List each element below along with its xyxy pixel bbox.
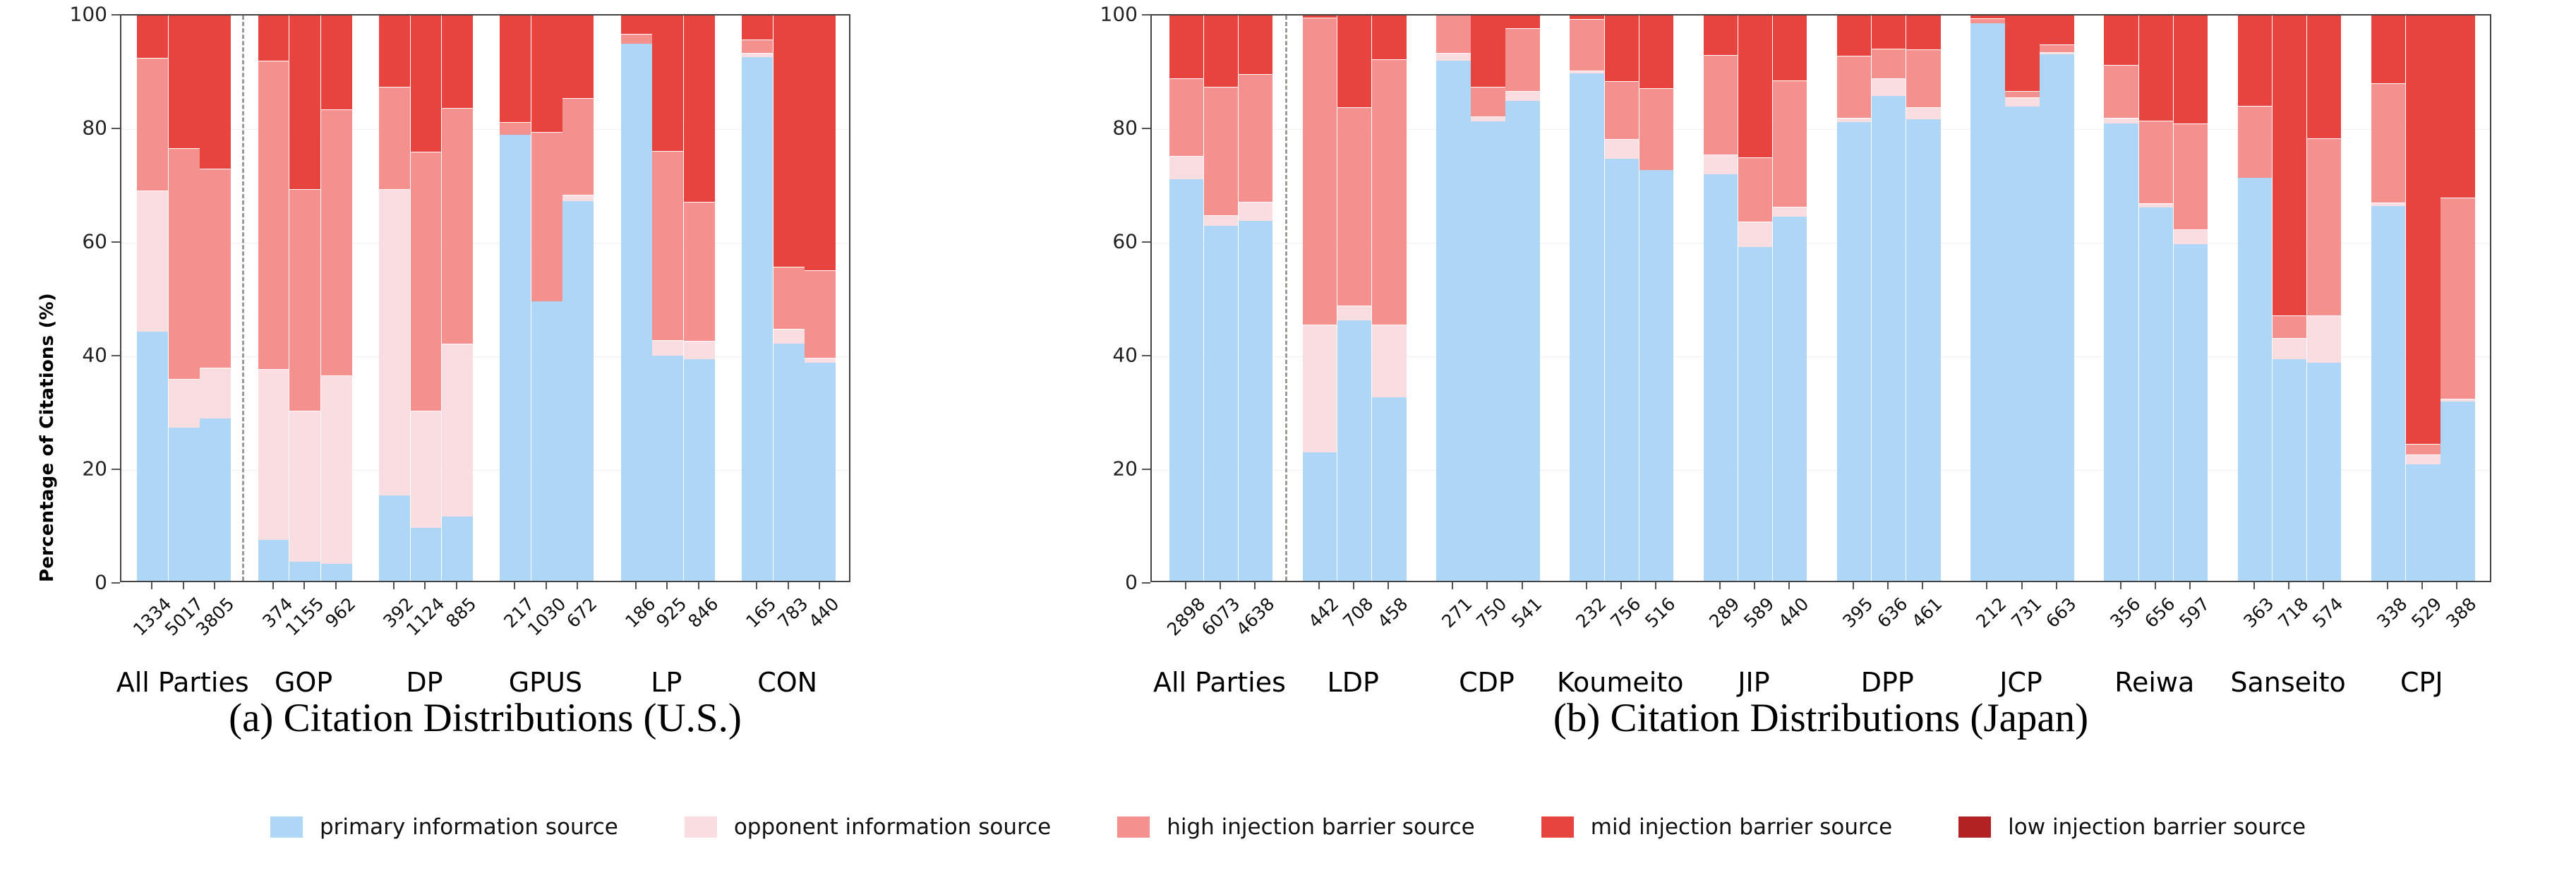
bar-segment-primary-information-source [1471,121,1505,581]
x-tick-mark [1452,582,1453,589]
bar-segment-high-injection-barrier-source [1505,28,1539,91]
bar-segment-mid-injection-barrier-source [1303,14,1337,18]
bar-segment-primary-information-source [321,564,352,581]
bar-segment-high-injection-barrier-source [1704,55,1738,155]
bar-segment-primary-information-source [774,344,805,581]
x-tick-mark [335,582,337,589]
bar-segment-opponent-information-source [1471,116,1505,121]
bar-segment-high-injection-barrier-source [1337,107,1371,305]
x-tick-mark [2021,582,2023,589]
stacked-bar [2307,14,2341,581]
legend-item-4: low injection barrier source [1958,814,2306,840]
bar-segment-high-injection-barrier-source [2005,91,2039,97]
bar-segment-high-injection-barrier-source [137,58,168,191]
bar-segment-primary-information-source [1303,452,1337,581]
bar-segment-opponent-information-source [2174,229,2208,245]
bar-segment-high-injection-barrier-source [2238,106,2272,178]
group-divider [242,16,244,581]
stacked-bar [1372,14,1406,581]
bar-segment-opponent-information-source [2139,203,2173,207]
legend-label: primary information source [320,814,618,840]
bar-segment-high-injection-barrier-source [200,169,231,368]
bar-segment-opponent-information-source [1872,78,1906,96]
bar-segment-opponent-information-source [1337,306,1371,321]
bar-segment-high-injection-barrier-source [2406,444,2440,454]
bar-segment-opponent-information-source [2371,203,2405,206]
x-tick-mark [456,582,457,589]
y-tick-mark [112,582,120,584]
x-tick-mark [183,582,184,589]
stacked-bar [1906,14,1940,581]
bar-segment-high-injection-barrier-source [1303,18,1337,325]
bar-segment-opponent-information-source [1303,325,1337,452]
bar-segment-primary-information-source [1239,221,1272,581]
bar-segment-high-injection-barrier-source [1872,49,1906,79]
y-tick-mark [1142,582,1150,584]
bar-segment-primary-information-source [805,363,836,581]
bar-segment-mid-injection-barrier-source [805,14,836,270]
bar-segment-high-injection-barrier-source [742,40,773,53]
bar-segment-mid-injection-barrier-source [1837,14,1871,56]
bar-segment-mid-injection-barrier-source [289,14,320,189]
bar-segment-mid-injection-barrier-source [1605,14,1639,81]
stacked-bar [652,14,683,581]
bar-segment-mid-injection-barrier-source [684,14,715,202]
bar-segment-primary-information-source [442,517,473,581]
bar-segment-high-injection-barrier-source [621,34,652,44]
legend-item-3: mid injection barrier source [1541,814,1892,840]
bar-segment-high-injection-barrier-source [1372,59,1406,325]
x-tick-mark [2120,582,2121,589]
bar-segment-mid-injection-barrier-source [1738,14,1772,157]
x-tick-mark [1788,582,1790,589]
bar-segment-mid-injection-barrier-source [1505,14,1539,28]
bar-segment-opponent-information-source [2307,315,2341,363]
bar-segment-mid-injection-barrier-source [621,14,652,34]
stacked-bar [289,14,320,581]
bar-segment-mid-injection-barrier-source [2174,14,2208,123]
x-tick-mark [1754,582,1755,589]
bar-segment-high-injection-barrier-source [805,270,836,358]
bar-segment-opponent-information-source [1436,53,1470,61]
legend-label: mid injection barrier source [1591,814,1892,840]
stacked-bar [1337,14,1371,581]
bar-segment-high-injection-barrier-source [379,87,410,188]
bar-segment-opponent-information-source [2040,52,2074,54]
bar-segment-high-injection-barrier-source [2139,121,2173,203]
stacked-bar [2104,14,2138,581]
stacked-bar [1970,14,2004,581]
bar-segment-primary-information-source [411,528,442,581]
stacked-bar [2174,14,2208,581]
bar-segment-high-injection-barrier-source [2440,198,2474,398]
stacked-bar [1169,14,1203,581]
x-tick-mark [1586,582,1587,589]
legend-swatch-icon [1117,816,1150,838]
bar-segment-opponent-information-source [289,411,320,562]
x-tick-mark [1655,582,1656,589]
stacked-bar [2440,14,2474,581]
y-tick-label: 40 [0,344,107,367]
bar-segment-primary-information-source [1738,247,1772,581]
legend-label: high injection barrier source [1167,814,1475,840]
stacked-bar [621,14,652,581]
x-tick-mark [698,582,699,589]
bar-segment-mid-injection-barrier-source [321,14,352,109]
bar-segment-primary-information-source [2238,178,2272,581]
stacked-bar [1837,14,1871,581]
stacked-bar [169,14,200,581]
stacked-bar [1605,14,1639,581]
bar-segment-opponent-information-source [805,358,836,362]
bar-segment-mid-injection-barrier-source [1872,14,1906,49]
bar-segment-primary-information-source [684,359,715,581]
x-tick-mark [2456,582,2457,589]
bar-segment-high-injection-barrier-source [2273,315,2306,338]
bar-segment-mid-injection-barrier-source [742,14,773,40]
stacked-bar [1872,14,1906,581]
bar-segment-primary-information-source [652,356,683,581]
bar-segment-primary-information-source [1639,170,1673,581]
bar-segment-high-injection-barrier-source [1738,157,1772,222]
bar-segment-mid-injection-barrier-source [2238,14,2272,106]
bar-segment-high-injection-barrier-source [2174,123,2208,229]
bar-segment-opponent-information-source [1738,222,1772,246]
x-tick-mark [1254,582,1256,589]
bar-segment-mid-injection-barrier-source [652,14,683,151]
plot-area-jp [1150,14,2491,582]
x-tick-mark [1388,582,1389,589]
bar-segment-high-injection-barrier-source [652,151,683,340]
bar-segment-primary-information-source [379,495,410,581]
bar-segment-mid-injection-barrier-source [1970,14,2004,18]
bar-segment-primary-information-source [1872,96,1906,581]
bar-segment-mid-injection-barrier-source [1169,14,1203,78]
x-group-label: CON [757,667,817,698]
bar-segment-high-injection-barrier-source [1204,87,1238,215]
x-tick-mark [2387,582,2388,589]
bar-segment-high-injection-barrier-source [2371,83,2405,203]
x-tick-mark [1185,582,1186,589]
bar-segment-mid-injection-barrier-source [258,14,289,61]
bar-segment-mid-injection-barrier-source [379,14,410,87]
bar-segment-opponent-information-source [1204,215,1238,225]
bar-segment-primary-information-source [169,428,200,581]
bar-segment-opponent-information-source [2104,118,2138,123]
bar-segment-primary-information-source [1837,122,1871,581]
bar-segment-primary-information-source [2307,363,2341,581]
x-tick-mark [666,582,668,589]
bar-segment-opponent-information-source [562,195,594,202]
bar-segment-high-injection-barrier-source [1605,81,1639,138]
legend-item-0: primary information source [270,814,618,840]
x-tick-mark [546,582,547,589]
bar-segment-primary-information-source [1505,101,1539,581]
bar-segment-opponent-information-source [258,369,289,540]
y-tick-mark [1142,128,1150,129]
x-tick-mark [635,582,637,589]
bar-segment-high-injection-barrier-source [1837,56,1871,118]
bar-segment-opponent-information-source [442,344,473,517]
stacked-bar [1239,14,1272,581]
bar-segment-high-injection-barrier-source [169,148,200,380]
bar-segment-high-injection-barrier-source [2104,65,2138,118]
bar-segment-mid-injection-barrier-source [442,14,473,108]
bar-segment-primary-information-source [1204,226,1238,581]
x-tick-mark [214,582,215,589]
bar-segment-opponent-information-source [137,191,168,332]
bar-segment-high-injection-barrier-source [2040,44,2074,52]
bar-segment-mid-injection-barrier-source [2371,14,2405,83]
bar-segment-high-injection-barrier-source [1471,87,1505,116]
stacked-bar [805,14,836,581]
bar-segment-mid-injection-barrier-source [1704,14,1738,55]
stacked-bar [2040,14,2074,581]
bar-segment-primary-information-source [1436,61,1470,581]
stacked-bar [742,14,773,581]
bar-segment-high-injection-barrier-source [289,189,320,411]
stacked-bar [2273,14,2306,581]
stacked-bar [562,14,594,581]
bar-segment-opponent-information-source [1505,91,1539,101]
x-tick-mark [303,582,305,589]
bar-segment-opponent-information-source [1239,202,1272,221]
legend-swatch-icon [1541,816,1574,838]
bar-segment-mid-injection-barrier-source [774,14,805,267]
bar-segment-primary-information-source [1570,73,1603,581]
bar-segment-opponent-information-source [2005,97,2039,107]
stacked-bar [258,14,289,581]
stacked-bar [531,14,562,581]
x-tick-mark [151,582,152,589]
x-tick-mark [1220,582,1221,589]
bar-segment-high-injection-barrier-source [1436,14,1470,53]
bar-segment-high-injection-barrier-source [1970,18,2004,23]
x-tick-mark [424,582,426,589]
y-tick-mark [112,241,120,243]
bar-segment-high-injection-barrier-source [1239,74,1272,202]
stacked-bar [2238,14,2272,581]
stacked-bar [1570,14,1603,581]
bar-segment-primary-information-source [1906,119,1940,581]
bar-segment-opponent-information-source [379,189,410,496]
bar-segment-primary-information-source [2005,107,2039,581]
bar-segment-primary-information-source [1773,217,1807,581]
stacked-bar [1639,14,1673,581]
bar-segment-primary-information-source [258,540,289,581]
x-tick-mark [1887,582,1889,589]
group-divider [1285,16,1287,581]
bar-segment-opponent-information-source [1605,139,1639,159]
y-tick-mark [112,355,120,356]
bar-segment-opponent-information-source [742,53,773,57]
stacked-bar [1436,14,1470,581]
bar-segment-opponent-information-source [321,375,352,563]
x-tick-mark [788,582,789,589]
bar-segment-high-injection-barrier-source [258,61,289,369]
bar-segment-mid-injection-barrier-source [2104,14,2138,65]
bar-segment-high-injection-barrier-source [562,98,594,195]
bar-segment-primary-information-source [2174,244,2208,581]
bar-segment-opponent-information-source [652,340,683,356]
x-tick-mark [1620,582,1622,589]
x-tick-mark [393,582,395,589]
bar-segment-opponent-information-source [1169,156,1203,179]
bar-segment-opponent-information-source [2406,454,2440,464]
y-tick-label: 0 [0,571,107,594]
bar-segment-opponent-information-source [1372,325,1406,397]
bar-segment-mid-injection-barrier-source [1239,14,1272,74]
x-tick-mark [2056,582,2057,589]
x-tick-mark [1922,582,1923,589]
bar-segment-primary-information-source [137,332,168,581]
bar-segment-mid-injection-barrier-source [2040,14,2074,44]
bar-segment-opponent-information-source [1704,155,1738,174]
stacked-bar [1505,14,1539,581]
stacked-bar [500,14,531,581]
bar-segment-mid-injection-barrier-source [137,14,168,58]
stacked-bar [1471,14,1505,581]
bar-segment-high-injection-barrier-source [411,152,442,411]
y-tick-label: 100 [0,3,107,26]
bar-segment-primary-information-source [2440,402,2474,581]
bar-segment-high-injection-barrier-source [1906,49,1940,108]
y-tick-label: 60 [0,230,107,253]
bar-segment-primary-information-source [1704,174,1738,581]
stacked-bar [442,14,473,581]
bar-segment-mid-injection-barrier-source [1471,14,1505,87]
bar-segment-primary-information-source [1372,397,1406,581]
x-tick-mark [2288,582,2289,589]
bar-segment-primary-information-source [562,201,594,581]
bar-segment-mid-injection-barrier-source [200,14,231,169]
x-tick-mark [2253,582,2255,589]
bar-segment-high-injection-barrier-source [2307,138,2341,315]
x-tick-mark [2189,582,2191,589]
x-tick-mark [577,582,578,589]
stacked-bar [1738,14,1772,581]
bar-segment-primary-information-source [1169,179,1203,581]
bar-segment-primary-information-source [500,135,531,581]
bar-segment-mid-injection-barrier-source [2005,14,2039,91]
bar-segment-primary-information-source [2406,464,2440,581]
bar-segment-opponent-information-source [1837,118,1871,122]
bar-segment-primary-information-source [1337,320,1371,581]
y-tick-mark [112,128,120,129]
stacked-bar [684,14,715,581]
x-tick-mark [1318,582,1320,589]
bar-segment-opponent-information-source [1906,107,1940,119]
legend-item-1: opponent information source [685,814,1051,840]
stacked-bar [379,14,410,581]
y-tick-label: 20 [875,457,1138,481]
bar-segment-primary-information-source [2139,207,2173,581]
bar-segment-mid-injection-barrier-source [2139,14,2173,121]
y-axis-label: Percentage of Citations (%) [37,293,58,582]
bar-segment-opponent-information-source [169,379,200,427]
bar-segment-mid-injection-barrier-source [531,14,562,132]
y-tick-label: 60 [875,230,1138,253]
bar-segment-high-injection-barrier-source [500,122,531,135]
bar-segment-mid-injection-barrier-source [2273,14,2306,315]
bar-segment-high-injection-barrier-source [774,267,805,330]
bar-segment-opponent-information-source [1570,71,1603,73]
bar-segment-opponent-information-source [411,411,442,528]
stacked-bar [321,14,352,581]
bar-segment-high-injection-barrier-source [684,202,715,341]
legend-label: low injection barrier source [2008,814,2306,840]
stacked-bar [200,14,231,581]
x-tick-mark [1486,582,1488,589]
bar-segment-primary-information-source [2371,206,2405,581]
bar-segment-high-injection-barrier-source [531,132,562,301]
bar-segment-primary-information-source [621,44,652,581]
bar-segment-primary-information-source [2040,54,2074,581]
bar-segment-mid-injection-barrier-source [2440,14,2474,198]
x-tick-mark [1353,582,1354,589]
legend-label: opponent information source [734,814,1051,840]
bar-segment-mid-injection-barrier-source [1906,14,1940,49]
bar-segment-opponent-information-source [1773,207,1807,217]
bar-segment-mid-injection-barrier-source [1337,14,1371,107]
bar-segment-mid-injection-barrier-source [1570,14,1603,19]
bar-segment-high-injection-barrier-source [1773,80,1807,207]
legend-swatch-icon [1958,816,1991,838]
bar-segment-mid-injection-barrier-source [2307,14,2341,138]
bar-segment-mid-injection-barrier-source [2406,14,2440,444]
x-tick-mark [819,582,820,589]
stacked-bar [2139,14,2173,581]
x-tick-mark [1986,582,1987,589]
stacked-bar [2406,14,2440,581]
bar-segment-high-injection-barrier-source [442,108,473,344]
stacked-bar [1773,14,1807,581]
bar-segment-mid-injection-barrier-source [1773,14,1807,80]
y-tick-label: 80 [0,116,107,140]
bar-segment-mid-injection-barrier-source [411,14,442,152]
panel-caption: (a) Citation Distributions (U.S.) [229,695,742,741]
stacked-bar [774,14,805,581]
x-tick-mark [756,582,757,589]
y-tick-label: 80 [875,116,1138,140]
x-tick-mark [514,582,515,589]
y-tick-mark [1142,241,1150,243]
stacked-bar [1303,14,1337,581]
bar-segment-mid-injection-barrier-source [169,14,200,148]
x-tick-mark [1853,582,1854,589]
bar-segment-mid-injection-barrier-source [562,14,594,98]
x-tick-mark [2421,582,2423,589]
x-tick-mark [2155,582,2156,589]
legend-swatch-icon [270,816,303,838]
y-tick-label: 40 [875,344,1138,367]
y-tick-mark [1142,14,1150,16]
plot-area-us [120,14,850,582]
bar-segment-primary-information-source [1605,159,1639,581]
bar-segment-primary-information-source [289,562,320,581]
y-tick-label: 20 [0,457,107,481]
bar-segment-high-injection-barrier-source [1169,78,1203,155]
legend: primary information sourceopponent infor… [0,806,2576,848]
x-tick-mark [1719,582,1721,589]
bar-segment-high-injection-barrier-source [1639,88,1673,170]
y-tick-label: 100 [875,3,1138,26]
legend-item-2: high injection barrier source [1117,814,1475,840]
bar-segment-high-injection-barrier-source [321,109,352,376]
legend-swatch-icon [685,816,717,838]
stacked-bar [2005,14,2039,581]
y-tick-mark [1142,355,1150,356]
